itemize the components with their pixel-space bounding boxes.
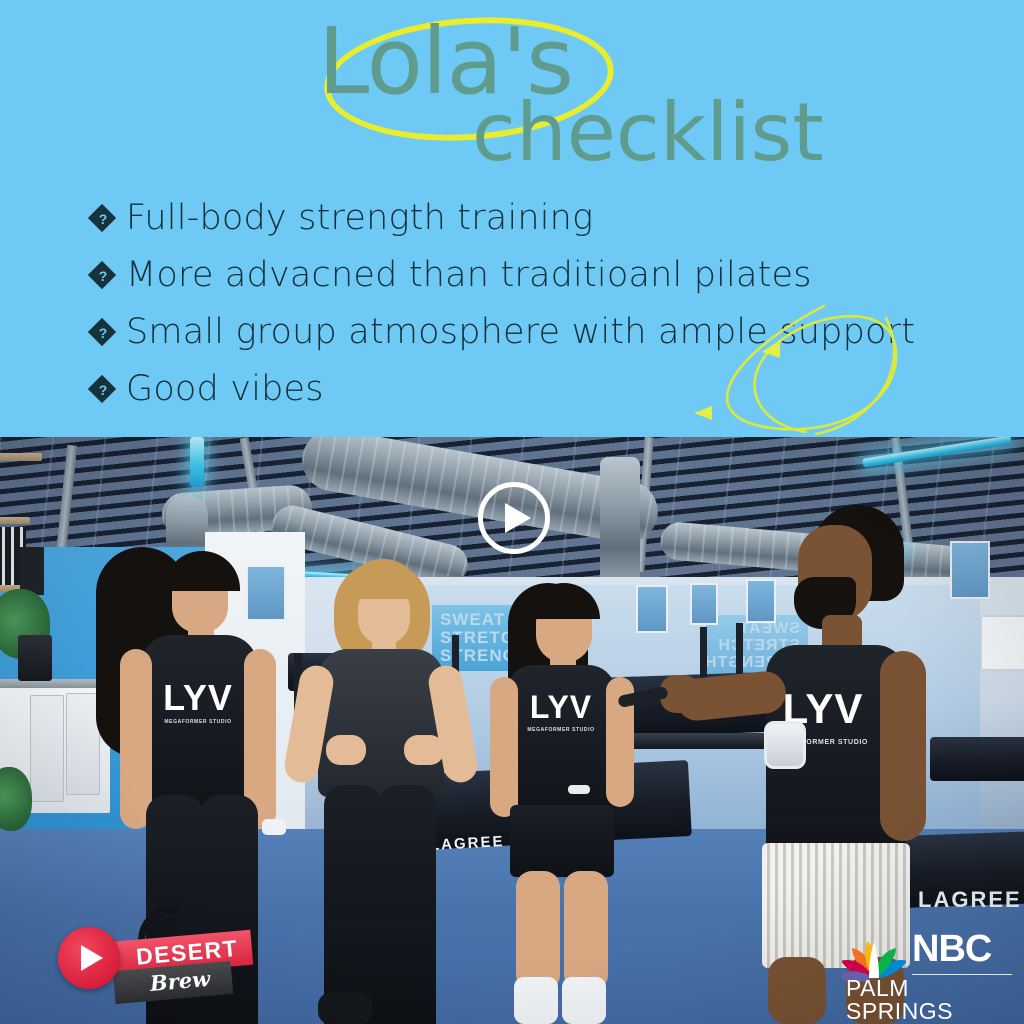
lagree-machine [930, 737, 1024, 781]
nbc-divider [912, 974, 1012, 975]
wall-poster [690, 583, 718, 625]
wall-sign-line1: SWEAT [714, 621, 800, 638]
checklist-header: Lola's checklist ? Full-body strength tr… [0, 0, 1024, 437]
list-item-label: Small group atmosphere with ample suppor… [126, 315, 915, 350]
wristwatch [262, 819, 286, 835]
play-triangle-icon [505, 503, 531, 533]
nbc-palm-springs-logo: NBC PALM SPRINGS [840, 932, 1016, 1004]
list-item: ? Good vibes [88, 361, 988, 418]
neon-light [190, 437, 204, 487]
shoe [318, 993, 372, 1024]
tank-top [506, 665, 616, 815]
leg [564, 871, 608, 991]
nbc-wordmark: NBC [912, 930, 991, 968]
apparel-logo: LYV [516, 689, 606, 726]
brew-play-button[interactable] [58, 927, 120, 989]
checklist: ? Full-body strength training ? More adv… [88, 190, 988, 418]
bracelet [568, 785, 590, 794]
hand [404, 735, 444, 765]
shorts [510, 805, 614, 877]
nbc-market-label: PALM SPRINGS [846, 977, 1016, 1023]
replacement-char-bullet-icon: ? [88, 318, 118, 348]
equipment-brand-label: LAGREE [918, 887, 1022, 913]
leg [516, 871, 560, 991]
retail-shelf [0, 453, 42, 461]
display-board [20, 547, 44, 595]
leg [768, 957, 826, 1024]
wall-poster [950, 541, 990, 599]
wall-poster [746, 579, 776, 623]
desert-brew-logo: DESERT Brew [58, 900, 248, 1005]
replacement-char-bullet-icon: ? [88, 261, 118, 291]
brew-label: Brew [149, 966, 211, 996]
hvac-duct-column [600, 457, 640, 587]
list-item: ? Small group atmosphere with ample supp… [88, 304, 988, 361]
apparel-logo: LYV [152, 677, 244, 719]
wall-poster [246, 565, 286, 621]
sock [514, 977, 558, 1024]
page-title-line2: checklist [472, 93, 824, 173]
whiteboard [980, 615, 1024, 671]
cabinet-door [66, 693, 100, 795]
arm [490, 677, 518, 817]
tank-top [318, 649, 444, 797]
retail-shelf [0, 517, 30, 524]
arm [120, 649, 152, 829]
play-triangle-icon [81, 945, 103, 971]
leggings [378, 785, 436, 1024]
list-item-label: Full-body strength training [126, 201, 593, 236]
coffee-machine [18, 635, 52, 681]
cabinet-door [30, 695, 64, 802]
wristwatch [764, 721, 806, 769]
video-card: Lola's checklist ? Full-body strength tr… [0, 0, 1024, 1024]
sock [562, 977, 606, 1024]
wall-poster [636, 585, 668, 633]
apparel-sublabel: MEGAFORMER STUDIO [516, 727, 606, 733]
hand [326, 735, 366, 765]
leggings [324, 785, 382, 1024]
list-item: ? Full-body strength training [88, 190, 988, 247]
apparel-sublabel: MEGAFORMER STUDIO [152, 719, 244, 725]
list-item-label: More advacned than traditioanl pilates [126, 258, 812, 293]
arm [880, 651, 926, 841]
replacement-char-bullet-icon: ? [88, 375, 118, 405]
list-item: ? More advacned than traditioanl pilates [88, 247, 988, 304]
replacement-char-bullet-icon: ? [88, 204, 118, 234]
title-block: Lola's checklist [0, 0, 1024, 180]
list-item-label: Good vibes [126, 372, 324, 407]
play-button[interactable] [478, 482, 550, 554]
